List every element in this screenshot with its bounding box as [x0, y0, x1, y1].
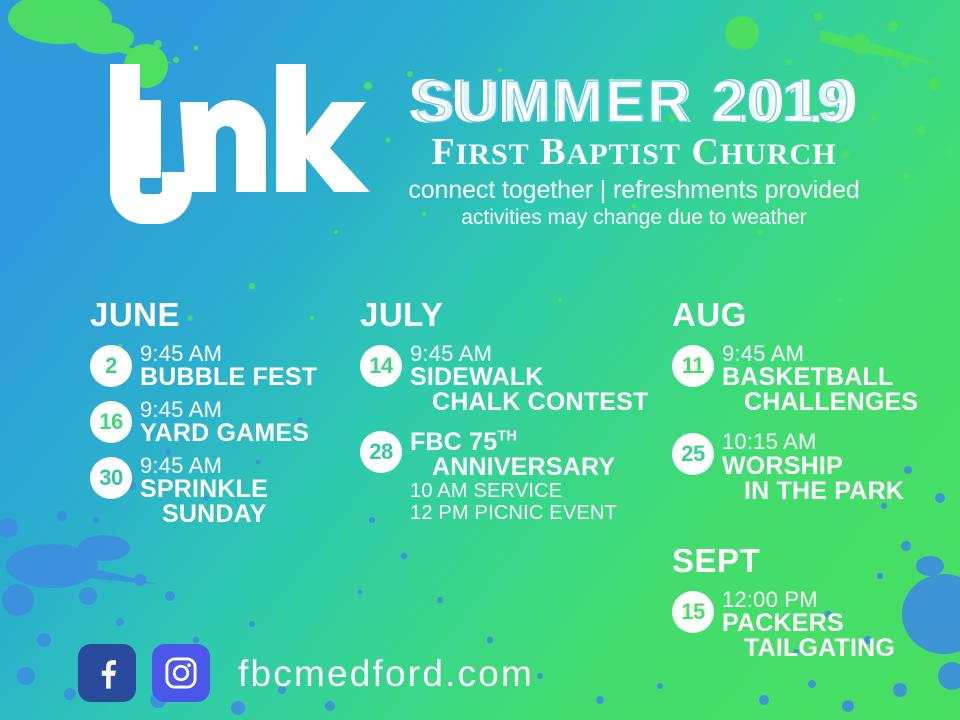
event-item[interactable]: 16 9:45 AM YARD GAMES: [90, 399, 370, 449]
event-subline: 10 AM SERVICE: [410, 480, 660, 502]
event-name: BUBBLE FEST: [140, 365, 370, 390]
event-item[interactable]: 11 9:45 AM BASKETBALL CHALLENGES: [672, 343, 952, 415]
event-day-badge: 15: [672, 591, 714, 633]
event-name: PACKERS TAILGATING: [722, 611, 952, 661]
event-item[interactable]: 25 10:15 AM WORSHIP IN THE PARK: [672, 431, 952, 503]
facebook-link[interactable]: [78, 644, 136, 702]
instagram-icon: [163, 655, 199, 691]
month-column-sept: SEPT 15 12:00 PM PACKERS TAILGATING: [672, 544, 952, 667]
event-name: SPRINKLE SUNDAY: [140, 477, 370, 527]
event-item[interactable]: 15 12:00 PM PACKERS TAILGATING: [672, 589, 952, 661]
footer-bar: fbcmedford.com: [78, 644, 534, 702]
month-column-june: JUNE 2 9:45 AM BUBBLE FEST 16 9:45 AM YA…: [90, 298, 370, 533]
event-name-line2: CHALLENGES: [722, 390, 952, 415]
subnote: activities may change due to weather: [344, 206, 924, 230]
event-name-line1: WORSHIP: [722, 452, 843, 480]
link-logo: [62, 46, 332, 266]
event-time: 9:45 AM: [140, 455, 370, 477]
event-name: SIDEWALK CHALK CONTEST: [410, 365, 660, 415]
poster-canvas: SUMMER 2019 FIRST BAPTIST CHURCH connect…: [0, 0, 960, 720]
event-name-line1: BUBBLE FEST: [140, 363, 317, 391]
event-name-line1: FBC 75TH: [410, 428, 517, 456]
month-column-july: JULY 14 9:45 AM SIDEWALK CHALK CONTEST 2…: [360, 298, 660, 530]
event-name-line1: YARD GAMES: [140, 419, 309, 447]
event-day-badge: 28: [360, 431, 402, 473]
event-name-line2: IN THE PARK: [722, 479, 952, 504]
event-item[interactable]: 2 9:45 AM BUBBLE FEST: [90, 343, 370, 393]
header-block: SUMMER 2019 FIRST BAPTIST CHURCH connect…: [344, 72, 924, 230]
event-subline: 12 PM PICNIC EVENT: [410, 502, 660, 524]
event-name-line2: CHALK CONTEST: [410, 390, 660, 415]
month-heading: SEPT: [672, 544, 952, 577]
event-item[interactable]: 28 FBC 75TH ANNIVERSARY 10 AM SERVICE 12…: [360, 429, 660, 523]
tagline: connect together | refreshments provided: [344, 176, 924, 205]
event-day-badge: 16: [90, 401, 132, 443]
month-column-aug: AUG 11 9:45 AM BASKETBALL CHALLENGES 25 …: [672, 298, 952, 510]
event-name: FBC 75TH ANNIVERSARY: [410, 429, 660, 479]
page-title-text: SUMMER 2019: [408, 72, 859, 131]
event-name-line2: SUNDAY: [140, 502, 370, 527]
event-item[interactable]: 14 9:45 AM SIDEWALK CHALK CONTEST: [360, 343, 660, 415]
event-time: 10:15 AM: [722, 431, 952, 453]
event-name-line2: ANNIVERSARY: [410, 455, 660, 480]
event-day-badge: 30: [90, 457, 132, 499]
event-time: 9:45 AM: [410, 343, 660, 365]
event-day-badge: 14: [360, 345, 402, 387]
event-name: BASKETBALL CHALLENGES: [722, 365, 952, 415]
month-heading: AUG: [672, 298, 952, 331]
event-name-line1: PACKERS: [722, 609, 844, 637]
event-name-line1: SIDEWALK: [410, 363, 544, 391]
website-url[interactable]: fbcmedford.com: [238, 655, 534, 692]
event-day-badge: 11: [672, 345, 714, 387]
event-name-line1: SPRINKLE: [140, 475, 268, 503]
church-name: FIRST BAPTIST CHURCH: [344, 133, 924, 173]
page-title: SUMMER 2019: [344, 72, 924, 131]
event-day-badge: 2: [90, 345, 132, 387]
month-heading: JUNE: [90, 298, 370, 331]
event-time: 9:45 AM: [140, 343, 370, 365]
event-time: 9:45 AM: [140, 399, 370, 421]
facebook-icon: [90, 656, 124, 690]
event-time: 12:00 PM: [722, 589, 952, 611]
instagram-link[interactable]: [152, 644, 210, 702]
event-time: 9:45 AM: [722, 343, 952, 365]
event-name: YARD GAMES: [140, 421, 370, 446]
event-name-line2: TAILGATING: [722, 636, 952, 661]
ordinal-suffix: TH: [497, 428, 517, 444]
event-name: WORSHIP IN THE PARK: [722, 454, 952, 504]
month-heading: JULY: [360, 298, 660, 331]
event-name-line1: BASKETBALL: [722, 363, 893, 391]
event-item[interactable]: 30 9:45 AM SPRINKLE SUNDAY: [90, 455, 370, 527]
event-day-badge: 25: [672, 433, 714, 475]
